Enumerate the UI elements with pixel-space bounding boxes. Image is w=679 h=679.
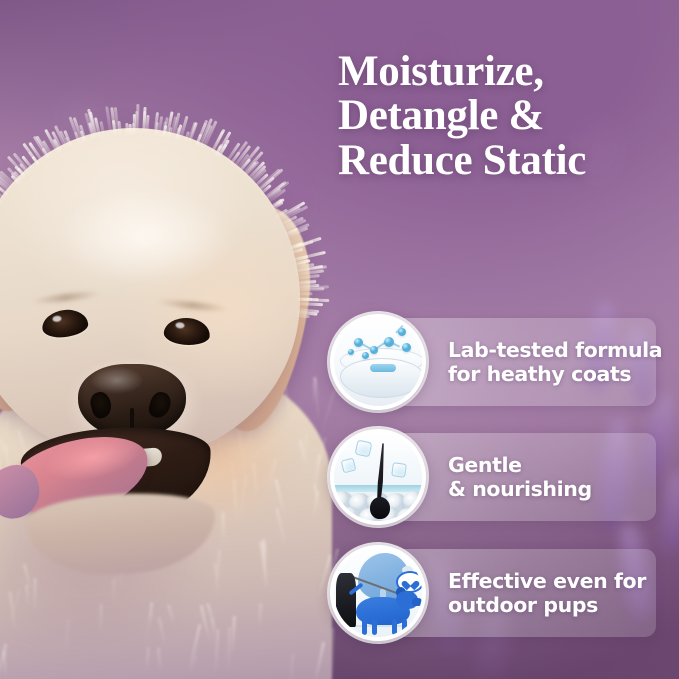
- dog-head: [0, 128, 300, 458]
- feature-1-line-2: for heathy coats: [448, 362, 662, 386]
- feature-card-outdoor[interactable]: Effective even for outdoor pups: [386, 549, 656, 637]
- dog-fur-strand: [0, 439, 3, 460]
- feature-1-line-1: Lab-tested formula: [448, 338, 662, 362]
- golden-retriever-photo: [0, 56, 376, 679]
- dog-on-leash-icon: [330, 545, 426, 641]
- dog-fur-strand: [314, 377, 320, 420]
- feature-3-line-2: outdoor pups: [448, 593, 646, 617]
- dog-forehead-highlight: [20, 188, 270, 308]
- petri-dish-molecules-icon: [330, 314, 426, 410]
- feature-card-lab-tested[interactable]: Lab-tested formula for heathy coats: [386, 318, 656, 406]
- headline-line-2: Detangle &: [338, 94, 668, 138]
- dog-fur-strand: [297, 292, 313, 295]
- marketing-image: Moisturize, Detangle & Reduce Static: [0, 0, 679, 679]
- dog-fur-strand: [297, 302, 324, 306]
- dog-fur-strand: [314, 642, 325, 679]
- hair-follicle-skin-icon: [330, 429, 426, 525]
- feature-card-text: Lab-tested formula for heathy coats: [448, 338, 662, 387]
- feature-2-line-2: & nourishing: [448, 477, 592, 501]
- feature-card-text: Effective even for outdoor pups: [448, 569, 646, 618]
- dog-fur-strand: [4, 413, 10, 440]
- feature-card-text: Gentle & nourishing: [448, 453, 592, 502]
- dog-fur-strand: [145, 115, 150, 137]
- headline-line-1: Moisturize,: [338, 50, 668, 94]
- headline-line-3: Reduce Static: [338, 139, 668, 183]
- feature-2-line-1: Gentle: [448, 453, 592, 477]
- dog-eye-right: [163, 316, 211, 347]
- page-title: Moisturize, Detangle & Reduce Static: [338, 50, 668, 183]
- dog-eye-left: [41, 308, 90, 340]
- feature-3-line-1: Effective even for: [448, 569, 646, 593]
- feature-card-gentle[interactable]: Gentle & nourishing: [386, 433, 656, 521]
